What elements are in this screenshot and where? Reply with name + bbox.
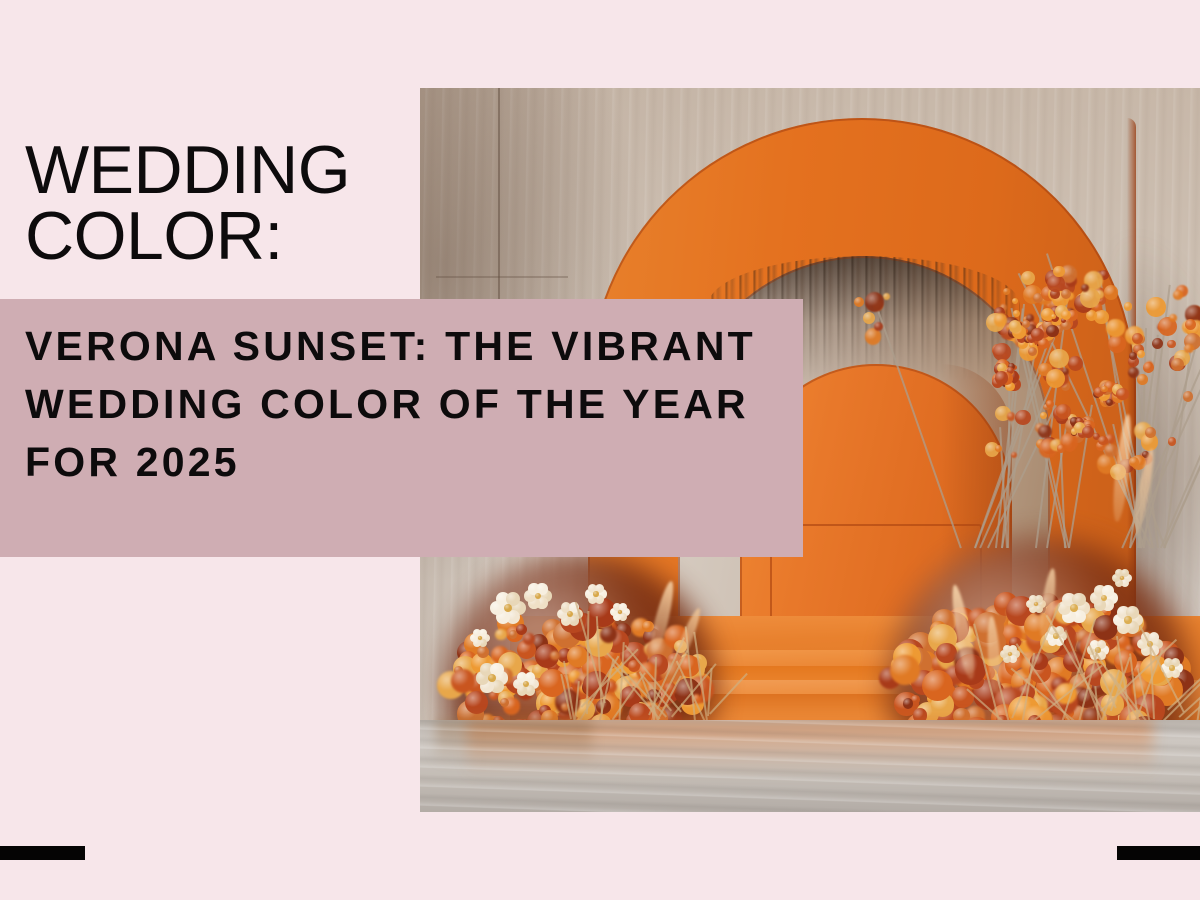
flower-blossom — [1171, 358, 1184, 371]
floor-veining — [420, 720, 1200, 812]
flower-blossom — [1104, 285, 1119, 300]
flower-blossom — [994, 313, 1008, 327]
flower-blossom — [1169, 314, 1176, 321]
flower-blossom — [488, 674, 496, 682]
flower-blossom — [1007, 412, 1015, 420]
tall-dried-stems — [910, 218, 1200, 548]
flower-blossom — [1070, 604, 1078, 612]
flower-blossom — [1003, 288, 1010, 295]
flower-blossom — [1129, 457, 1139, 467]
flower-blossom — [1143, 362, 1154, 373]
flower-blossom — [523, 633, 535, 645]
flower-blossom — [874, 322, 883, 331]
flower-blossom — [1057, 444, 1065, 452]
flower-blossom — [1104, 444, 1117, 457]
flower-blossom — [1013, 310, 1019, 316]
flower-blossom — [1061, 310, 1071, 320]
flower-blossom — [1184, 344, 1193, 353]
flower-blossom — [995, 371, 1008, 384]
flower-blossom — [1031, 328, 1044, 341]
flower-blossom — [993, 343, 1011, 361]
flower-blossom — [1173, 290, 1183, 300]
flower-blossom — [1116, 388, 1128, 400]
flower-blossom — [1012, 298, 1018, 304]
flower-blossom — [890, 655, 920, 685]
flower-blossom — [1061, 289, 1071, 299]
flower-blossom — [1046, 400, 1054, 408]
flower-blossom — [1106, 319, 1124, 337]
flower-blossom — [952, 686, 975, 709]
marble-floor — [420, 720, 1200, 812]
eyebrow-heading: WEDDING COLOR: — [25, 138, 445, 270]
flower-blossom — [1047, 275, 1064, 292]
flower-blossom — [1124, 302, 1132, 310]
flower-blossom — [1101, 386, 1108, 393]
flower-blossom — [451, 669, 475, 693]
flower-blossom — [1124, 616, 1131, 623]
flower-blossom — [1015, 410, 1030, 425]
flower-blossom — [1167, 340, 1176, 349]
flower-blossom — [1106, 399, 1113, 406]
flower-blossom — [1129, 352, 1137, 360]
flower-blossom — [1046, 325, 1058, 337]
flower-blossom — [1146, 297, 1165, 316]
flower-blossom — [1145, 427, 1156, 438]
rule-right — [1117, 846, 1200, 860]
rule-left — [0, 846, 85, 860]
flower-blossom — [863, 312, 875, 324]
flower-blossom — [495, 629, 506, 640]
flower-blossom — [1108, 335, 1126, 353]
flower-blossom — [1009, 320, 1022, 333]
poster-canvas: WEDDING COLOR: Verona Sunset: The Vibran… — [0, 0, 1200, 900]
flower-blossom — [1068, 356, 1083, 371]
flower-blossom — [1169, 665, 1174, 670]
flower-blossom — [1137, 374, 1148, 385]
flower-blossom — [567, 646, 588, 667]
flower-blossom — [995, 445, 1002, 452]
flower-blossom — [523, 681, 529, 687]
flower-blossom — [1183, 391, 1194, 402]
flower-blossom — [1021, 271, 1035, 285]
flower-blossom — [1185, 319, 1196, 330]
page-title: Verona Sunset: The Vibrant Wedding Color… — [25, 317, 781, 492]
flower-blossom — [1056, 404, 1071, 419]
flower-blossom — [567, 611, 573, 617]
flower-blossom — [903, 698, 913, 708]
title-band: Verona Sunset: The Vibrant Wedding Color… — [0, 299, 803, 557]
wall-crack-horizontal — [436, 276, 569, 278]
flower-blossom — [1049, 349, 1068, 368]
flower-blossom — [865, 292, 885, 312]
flower-blossom — [1168, 437, 1177, 446]
flower-blossom — [1011, 452, 1017, 458]
flower-blossom — [1040, 412, 1047, 419]
flower-blossom — [593, 591, 598, 596]
